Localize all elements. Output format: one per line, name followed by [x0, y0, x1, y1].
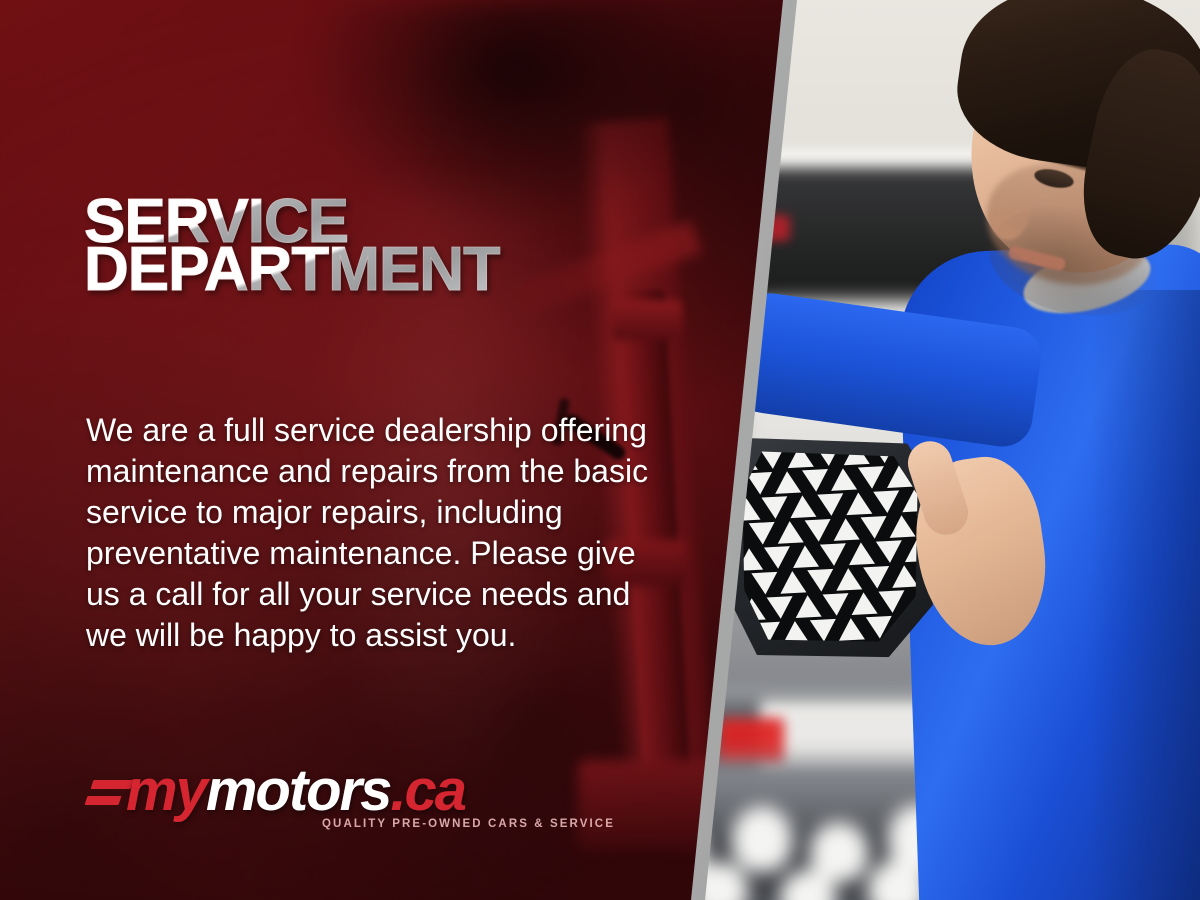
logo-wordmark: mymotors.ca [126, 762, 465, 820]
service-department-banner: SERVICE DEPARTMENT We are a full service… [0, 0, 1200, 900]
garage-red-marker [718, 718, 784, 766]
speed-dash-lower [85, 796, 122, 805]
grille-triangle [761, 496, 788, 519]
mechanic-hands-layer [790, 0, 1200, 900]
body-paragraph: We are a full service dealership offerin… [86, 410, 658, 656]
mymotors-logo[interactable]: mymotors.ca QUALITY PRE-OWNED CARS & SER… [86, 762, 606, 846]
grille-triangle [749, 522, 776, 545]
logo-dot: . [390, 758, 404, 823]
headline-line-2: DEPARTMENT [84, 244, 704, 296]
logo-tagline: QUALITY PRE-OWNED CARS & SERVICE [322, 818, 615, 830]
logo-prefix: my [126, 758, 206, 823]
panel-content: SERVICE DEPARTMENT We are a full service… [84, 0, 704, 900]
foreground-grille-blob [732, 806, 792, 872]
logo-name: motors [206, 758, 391, 823]
logo-tld: ca [405, 758, 466, 823]
page-title: SERVICE DEPARTMENT [84, 196, 704, 296]
grille-triangle [751, 572, 778, 595]
grille-triangle [764, 546, 791, 569]
